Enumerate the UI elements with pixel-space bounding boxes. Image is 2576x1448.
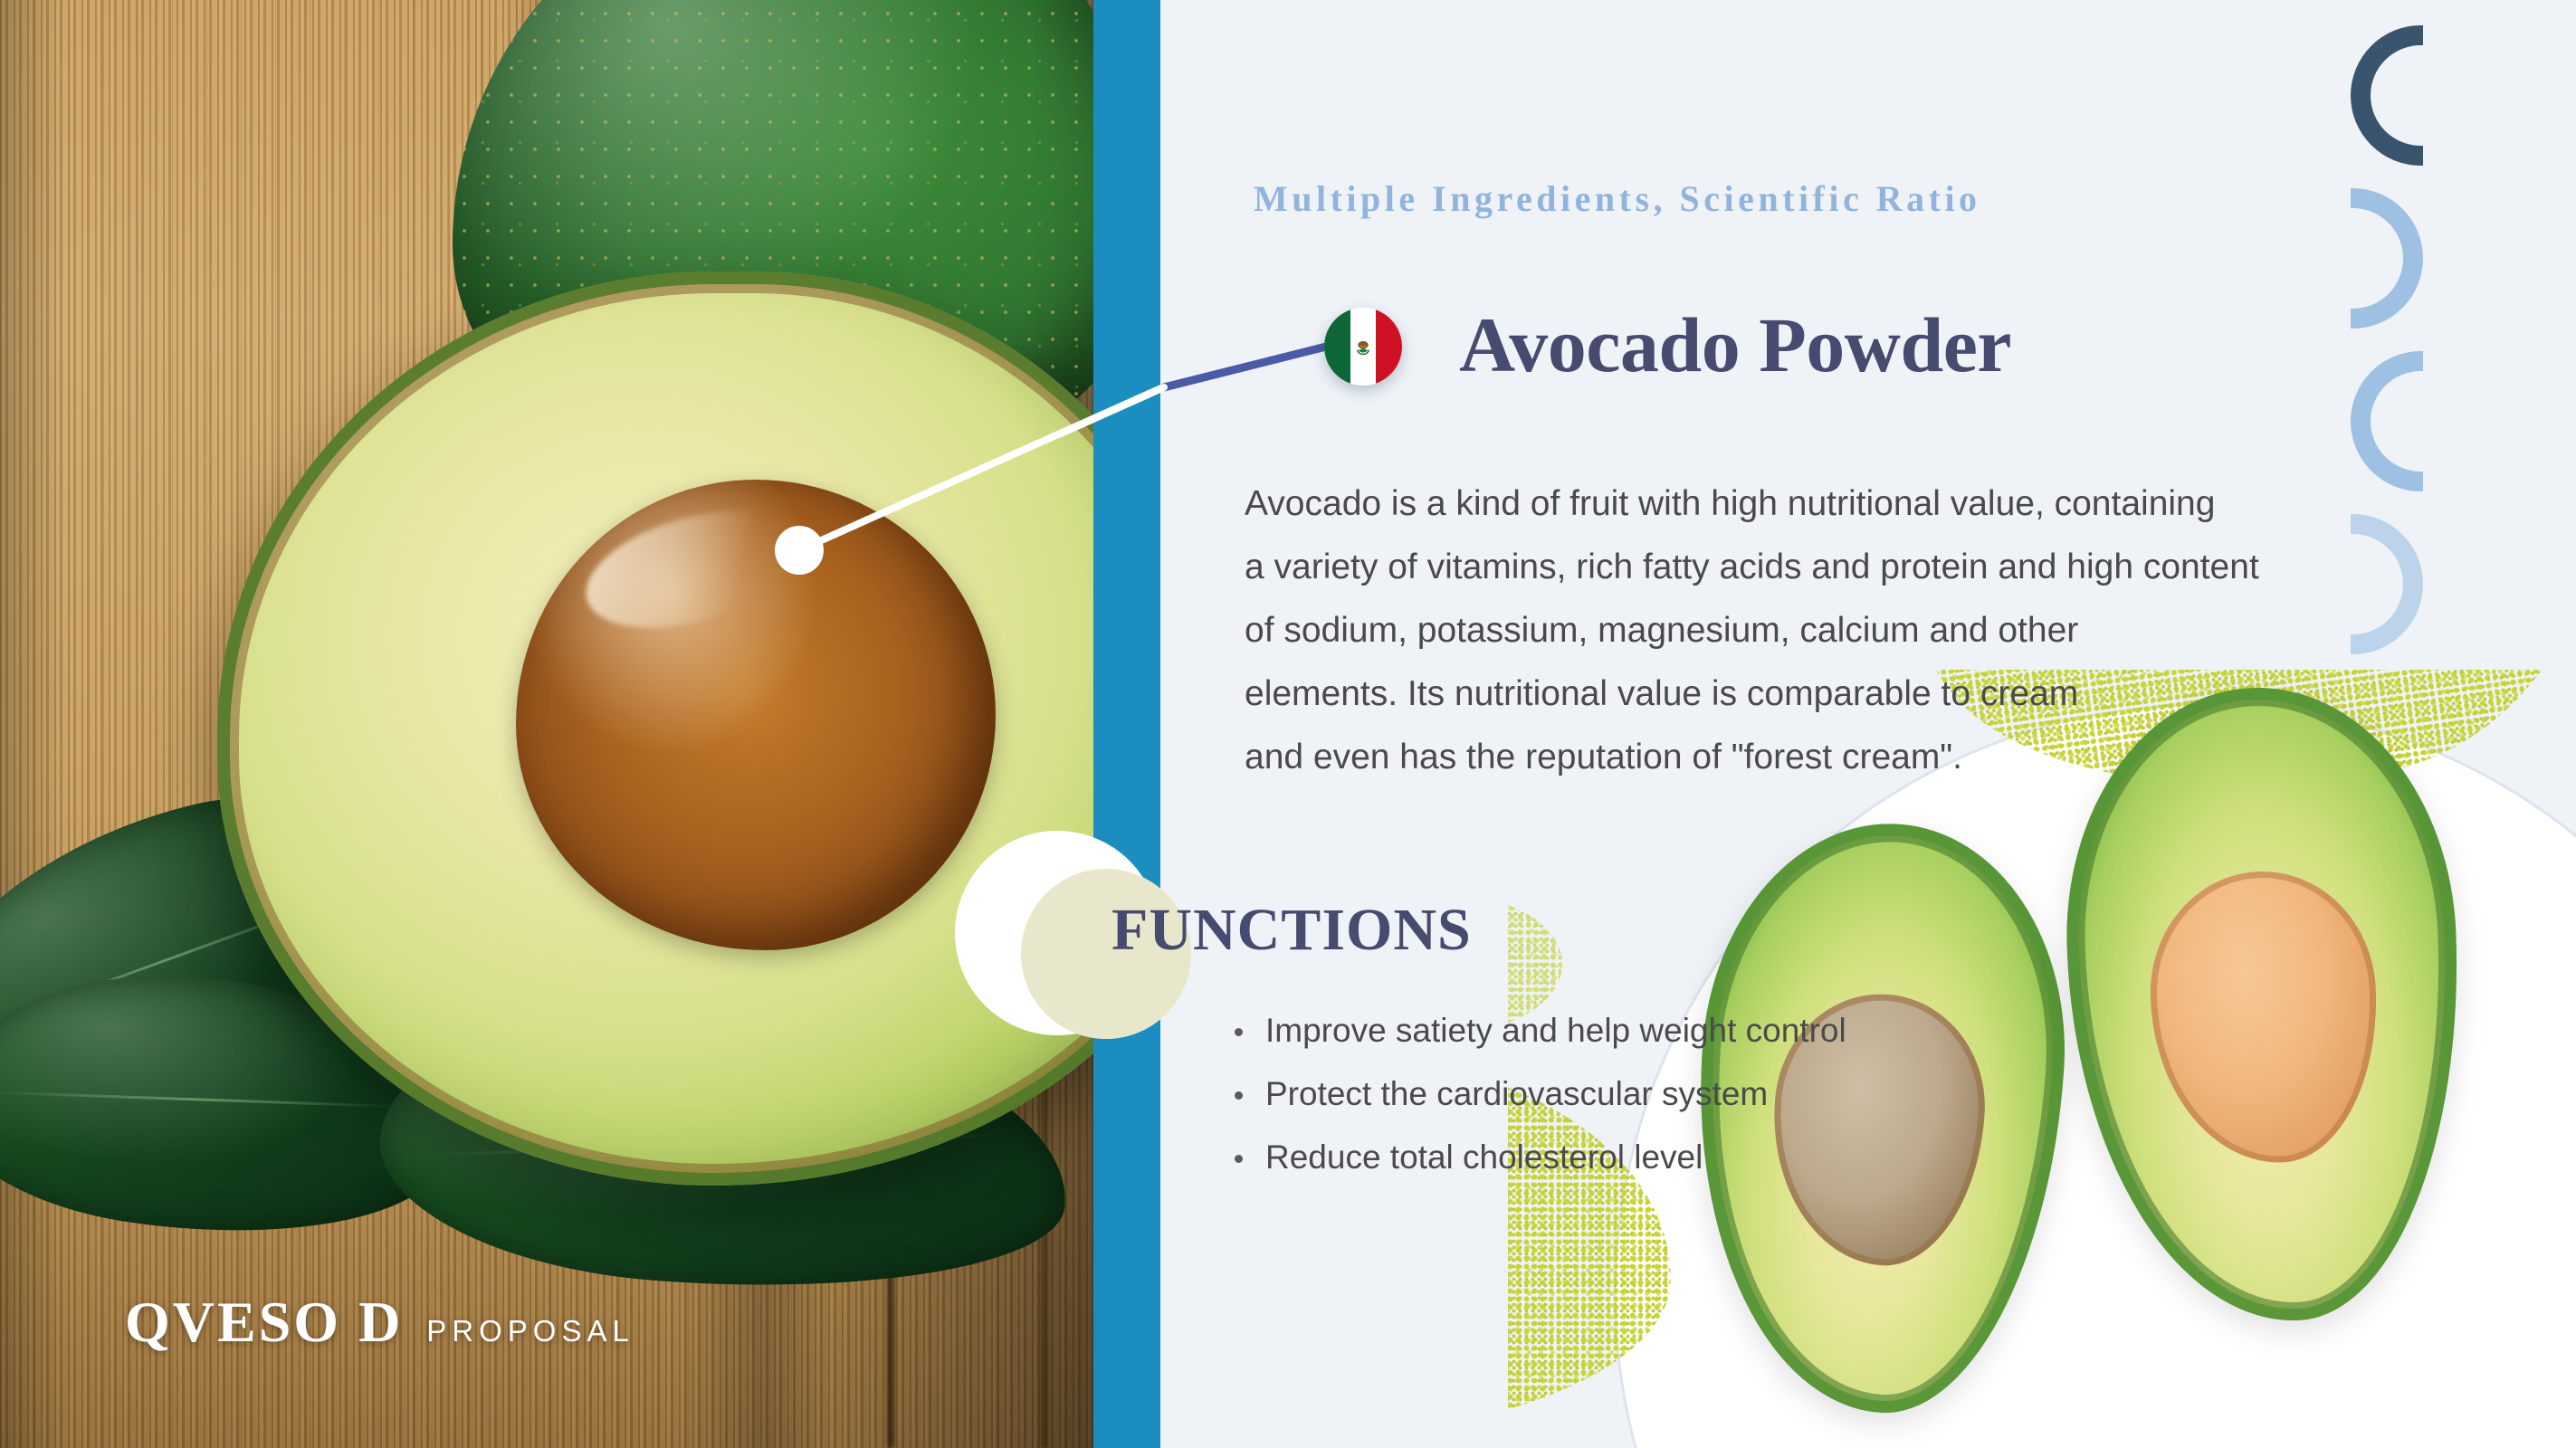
leaf-vein (0, 1091, 403, 1109)
decorative-paren-open-icon (2351, 25, 2423, 166)
decorative-paren-close-icon (2351, 514, 2423, 654)
description-line: of sodium, potassium, magnesium, calcium… (1245, 599, 2331, 662)
decorative-paren-open-icon (2351, 351, 2423, 491)
description-line: and even has the reputation of "forest c… (1245, 726, 2331, 789)
functions-list: Improve satiety and help weight control … (1231, 999, 2227, 1189)
slide-canvas: QVESO D PROPOSAL (0, 0, 2576, 1448)
page-title: Avocado Powder (1459, 306, 2011, 384)
description-paragraph: Avocado is a kind of fruit with high nut… (1245, 472, 2331, 789)
functions-heading: FUNCTIONS (1111, 896, 1472, 965)
mexico-flag-icon (1324, 308, 1402, 386)
list-item: Reduce total cholesterol level (1231, 1126, 2227, 1189)
description-line: a variety of vitamins, rich fatty acids … (1245, 536, 2331, 599)
logo-wordmark: QVESO D (125, 1289, 403, 1356)
flag-stripe-green (1324, 308, 1350, 386)
section-subtitle: Multiple Ingredients, Scientific Ratio (1254, 177, 1981, 220)
description-line: elements. Its nutritional value is compa… (1245, 662, 2331, 726)
description-line: Avocado is a kind of fruit with high nut… (1245, 472, 2331, 536)
avocado-photo-left: QVESO D PROPOSAL (0, 0, 1093, 1448)
list-item: Improve satiety and help weight control (1231, 999, 2227, 1062)
avocado-pit (516, 480, 996, 950)
decorative-paren-close-icon (2351, 188, 2423, 329)
flag-eagle-emblem-icon (1350, 333, 1377, 360)
flag-stripe-red (1376, 308, 1402, 386)
logo-subtitle: PROPOSAL (426, 1314, 634, 1348)
brand-logo: QVESO D PROPOSAL (125, 1289, 634, 1356)
list-item: Protect the cardiovascular system (1231, 1062, 2227, 1126)
blue-divider-bar (1093, 0, 1160, 1448)
